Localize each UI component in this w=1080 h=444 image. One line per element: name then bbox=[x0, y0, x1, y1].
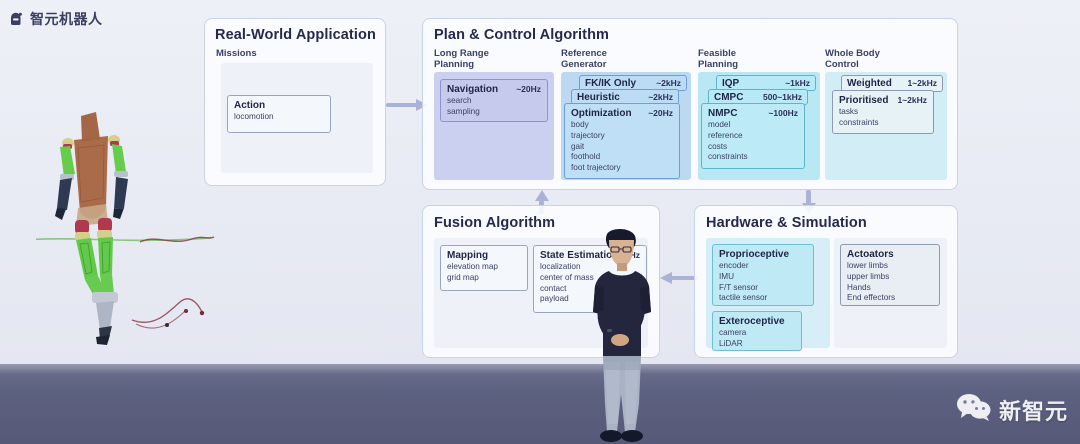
card-items-prioritised: tasks constraints bbox=[839, 107, 927, 129]
robot-skeleton-visualization bbox=[36, 92, 216, 347]
card-title-iqp: IQP bbox=[722, 78, 739, 89]
card-freq-prioritised: 1~2kHz bbox=[897, 95, 927, 105]
watermark: 新智元 bbox=[956, 393, 1068, 426]
card-title-action: Action bbox=[234, 100, 265, 111]
card-action[interactable]: Action locomotion bbox=[227, 95, 331, 133]
presenter-person bbox=[585, 226, 659, 444]
panel-plan-control-algorithm: Plan & Control Algorithm Long Range Plan… bbox=[422, 18, 958, 190]
card-freq-fk-ik-only: ~2kHz bbox=[656, 78, 681, 88]
card-items-navigation: search sampling bbox=[447, 96, 541, 118]
card-exteroceptive[interactable]: Exteroceptive camera LiDAR bbox=[712, 311, 802, 351]
subhead-reference-generator: Reference Generator bbox=[561, 48, 607, 70]
stage-floor-edge bbox=[0, 364, 1080, 374]
card-items-actoators: lower limbs upper limbs Hands End effect… bbox=[847, 261, 933, 304]
subhead-missions: Missions bbox=[216, 48, 257, 59]
card-items-mapping: elevation map grid map bbox=[447, 262, 521, 284]
card-title-mapping: Mapping bbox=[447, 250, 488, 261]
subhead-long-range-planning: Long Range Planning bbox=[434, 48, 489, 70]
card-proprioceptive[interactable]: Proprioceptive encoder IMU F/T sensor ta… bbox=[712, 244, 814, 306]
brand-logo: 智元机器人 bbox=[8, 9, 103, 29]
panel-title-hardware-simulation: Hardware & Simulation bbox=[706, 215, 867, 231]
panel-hardware-simulation: Hardware & Simulation Proprioceptive enc… bbox=[694, 205, 958, 358]
card-title-actoators: Actoators bbox=[847, 249, 894, 260]
watermark-text: 新智元 bbox=[999, 394, 1068, 426]
card-freq-weighted: 1~2kHz bbox=[907, 78, 937, 88]
card-navigation[interactable]: Navigation ~20Hz search sampling bbox=[440, 79, 548, 122]
card-mapping[interactable]: Mapping elevation map grid map bbox=[440, 245, 528, 291]
panel-title-fusion-algorithm: Fusion Algorithm bbox=[434, 215, 555, 231]
card-title-prioritised: Prioritised bbox=[839, 95, 888, 106]
card-optimization[interactable]: Optimization ~20Hz body trajectory gait … bbox=[564, 103, 680, 179]
card-actoators[interactable]: Actoators lower limbs upper limbs Hands … bbox=[840, 244, 940, 306]
card-freq-heuristic: ~2kHz bbox=[648, 92, 673, 102]
card-freq-optimization: ~20Hz bbox=[648, 108, 673, 118]
card-title-nmpc: NMPC bbox=[708, 108, 737, 119]
card-items-optimization: body trajectory gait foothold foot traje… bbox=[571, 120, 673, 174]
card-title-fk-ik-only: FK/IK Only bbox=[585, 78, 636, 89]
card-freq-iqp: ~1kHz bbox=[785, 78, 810, 88]
subhead-feasible-planning: Feasible Planning bbox=[698, 48, 738, 70]
card-title-exteroceptive: Exteroceptive bbox=[719, 316, 785, 327]
arrow-hardware-to-fusion bbox=[660, 272, 698, 284]
brand-name: 智元机器人 bbox=[30, 9, 103, 29]
card-title-heuristic: Heuristic bbox=[577, 92, 620, 103]
card-freq-cmpc: 500~1kHz bbox=[763, 92, 802, 102]
card-prioritised[interactable]: Prioritised 1~2kHz tasks constraints bbox=[832, 90, 934, 134]
presentation-screenshot: 智元机器人 bbox=[0, 0, 1080, 444]
card-title-cmpc: CMPC bbox=[714, 92, 743, 103]
panel-title-plan-control-algorithm: Plan & Control Algorithm bbox=[434, 27, 609, 43]
card-freq-navigation: ~20Hz bbox=[516, 84, 541, 94]
card-items-nmpc: model reference costs constraints bbox=[708, 120, 798, 163]
subhead-whole-body-control: Whole Body Control bbox=[825, 48, 880, 70]
card-nmpc[interactable]: NMPC ~100Hz model reference costs constr… bbox=[701, 103, 805, 169]
card-title-weighted: Weighted bbox=[847, 78, 892, 89]
card-title-navigation: Navigation bbox=[447, 84, 498, 95]
card-freq-nmpc: ~100Hz bbox=[768, 108, 798, 118]
card-items-proprioceptive: encoder IMU F/T sensor tactile sensor bbox=[719, 261, 807, 304]
card-items-action: locomotion bbox=[234, 112, 324, 123]
panel-title-real-world-application: Real-World Application bbox=[215, 27, 376, 43]
card-title-optimization: Optimization bbox=[571, 108, 632, 119]
card-title-proprioceptive: Proprioceptive bbox=[719, 249, 789, 260]
stage-floor bbox=[0, 364, 1080, 444]
agibot-logo-icon bbox=[8, 12, 24, 27]
panel-real-world-application: Real-World Application Missions Action l… bbox=[204, 18, 386, 186]
wechat-icon bbox=[956, 393, 992, 426]
card-items-exteroceptive: camera LiDAR bbox=[719, 328, 795, 350]
